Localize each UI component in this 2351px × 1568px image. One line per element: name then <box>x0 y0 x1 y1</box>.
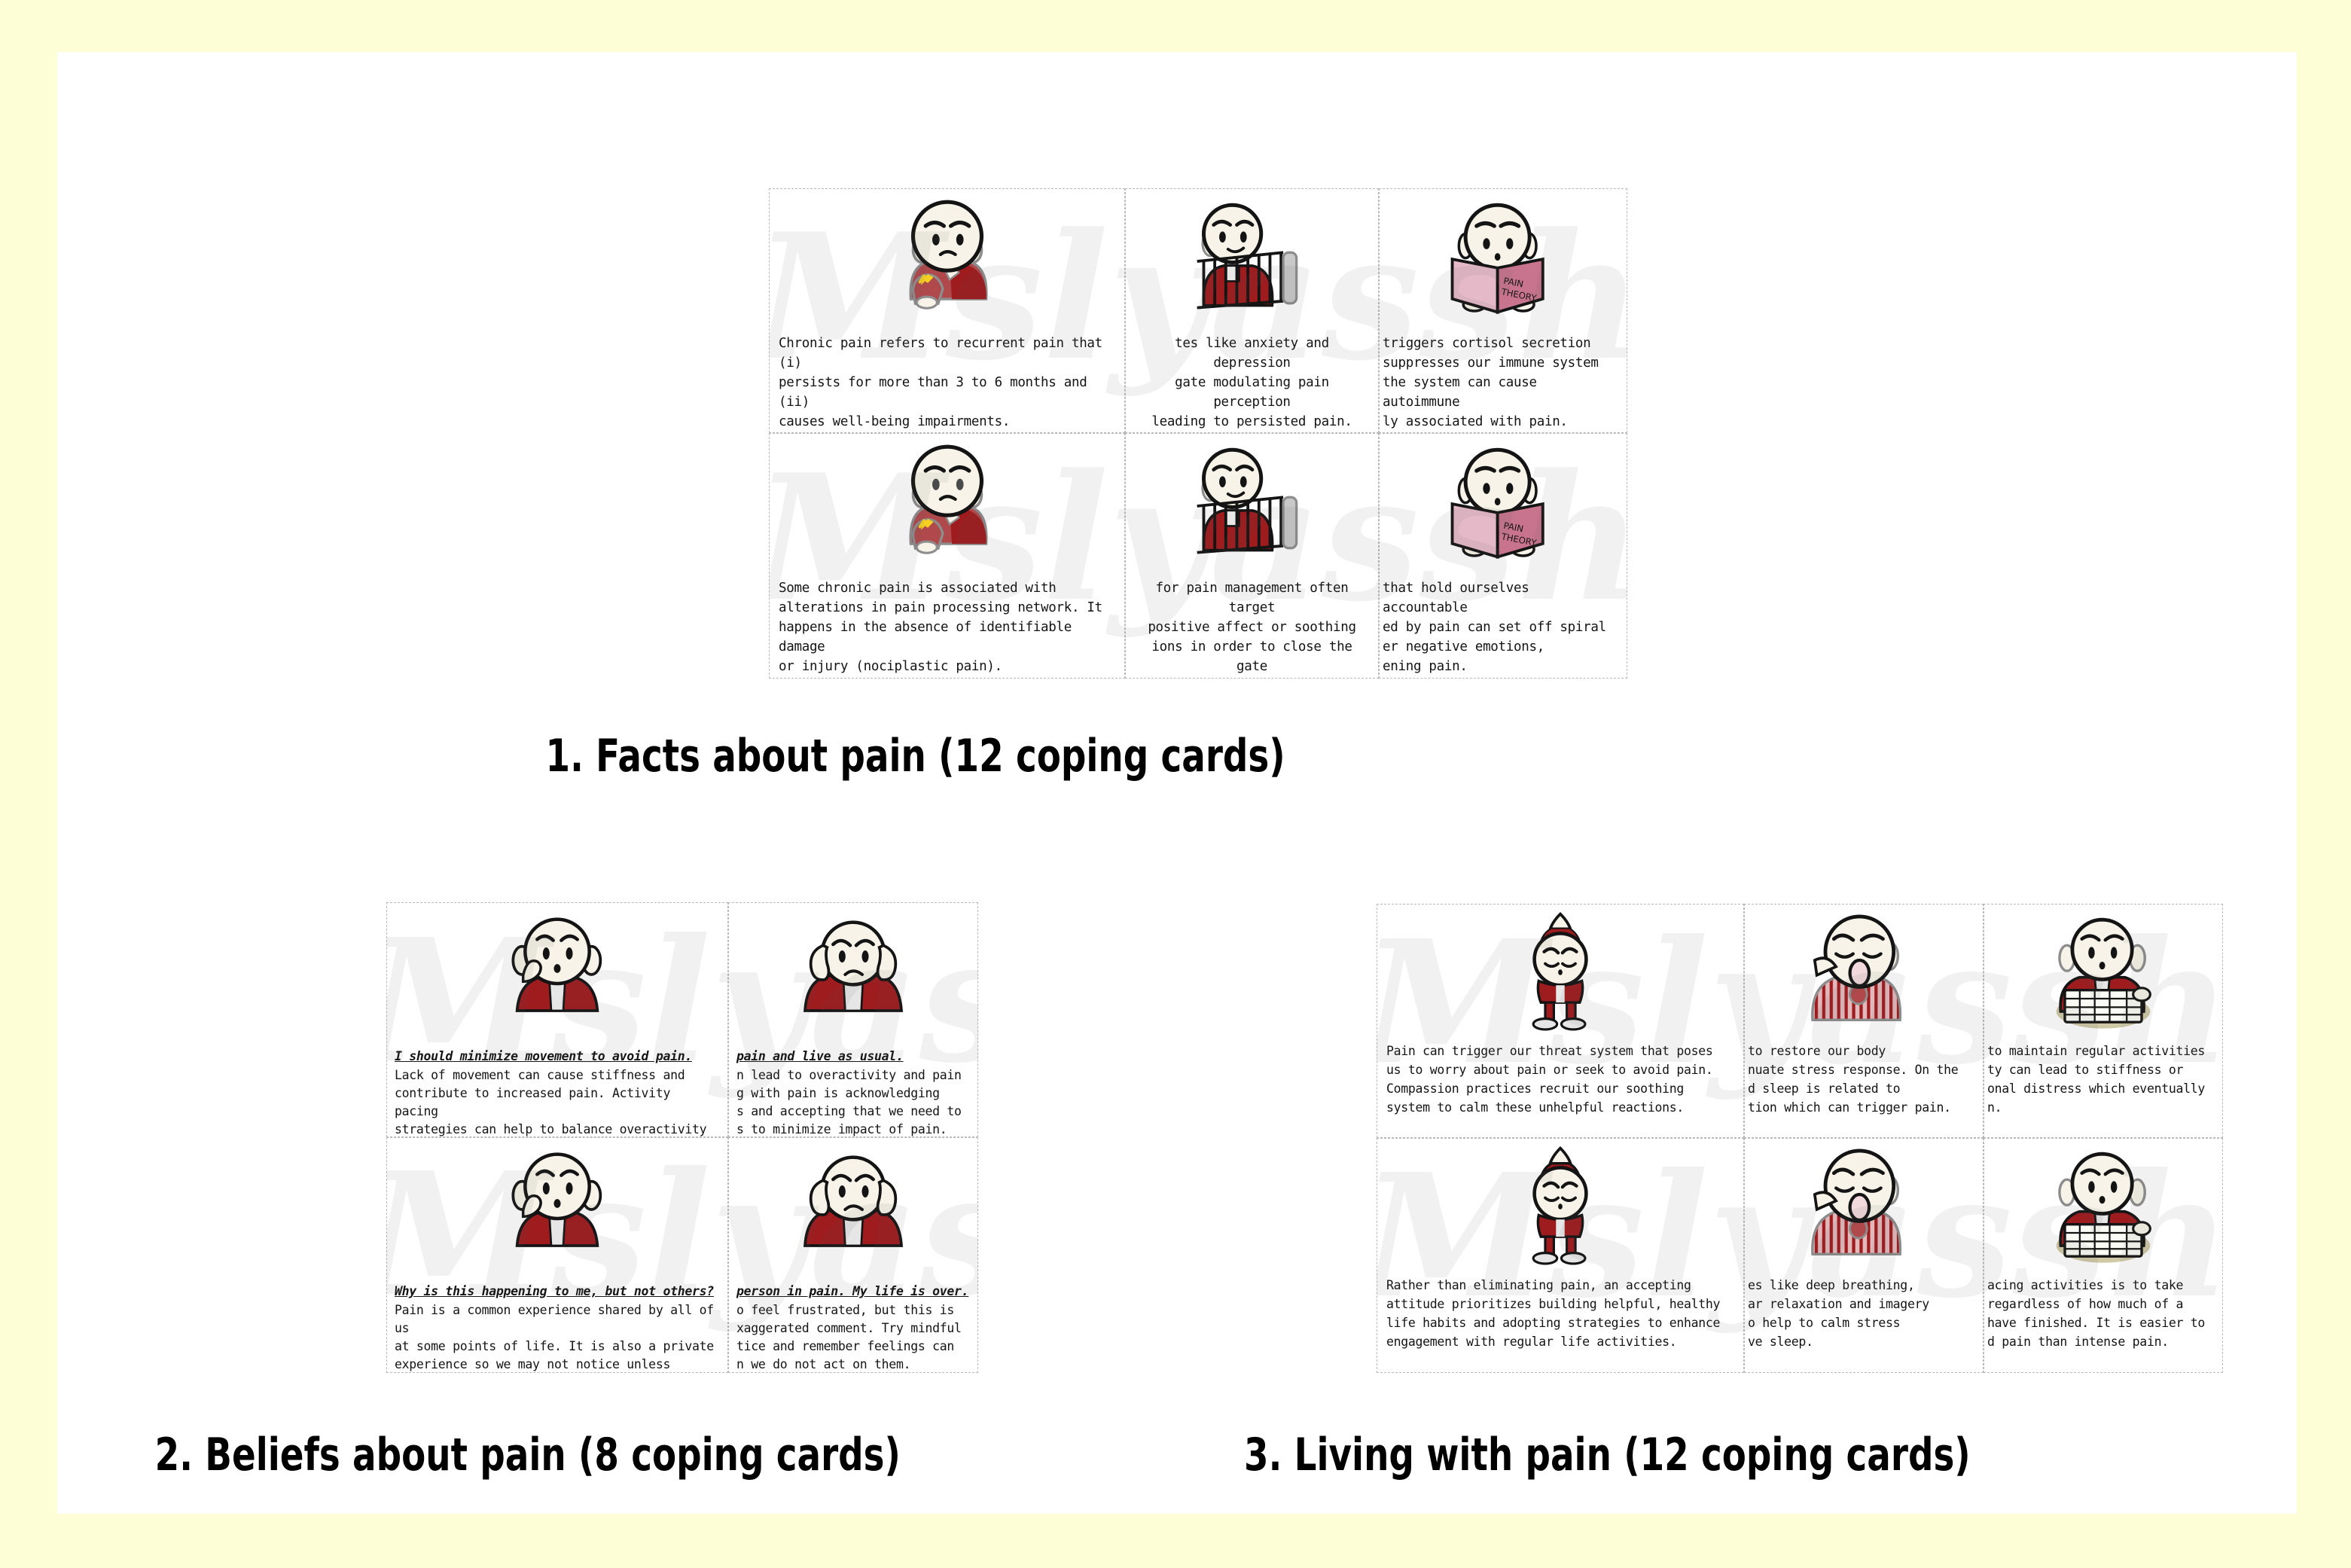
person-with-planner-icon <box>2039 1143 2167 1271</box>
card-illustration <box>1745 904 1983 1039</box>
coping-card[interactable]: for pain management often target positiv… <box>1125 433 1379 679</box>
coping-card[interactable]: PAIN THEORY that hold ourselves accounta… <box>1379 433 1627 679</box>
coping-card[interactable]: Rather than eliminating pain, an accepti… <box>1377 1138 1744 1373</box>
card-text: Why is this happening to me, but not oth… <box>387 1262 727 1373</box>
thinking-hand-on-cheek-icon <box>497 1140 617 1261</box>
belief-response: n lead to overactivity and pain g with p… <box>736 1068 962 1136</box>
coping-card[interactable]: to restore our body nuate stress respons… <box>1744 904 1984 1138</box>
yawning-sleepy-person-icon <box>1800 1143 1928 1271</box>
card-illustration <box>729 1138 977 1262</box>
card-text: to restore our body nuate stress respons… <box>1745 1039 1983 1117</box>
coping-card[interactable]: Some chronic pain is associated with alt… <box>769 433 1125 679</box>
card-illustration <box>770 189 1124 329</box>
group-1-caption: 1. Facts about pain (12 coping cards) <box>546 730 1285 782</box>
card-illustration <box>1126 189 1378 329</box>
group-2-caption: 2. Beliefs about pain (8 coping cards) <box>155 1429 901 1481</box>
card-text: Some chronic pain is associated with alt… <box>770 574 1124 676</box>
card-illustration <box>729 903 977 1027</box>
meditating-prayer-pose-icon <box>1496 1142 1625 1271</box>
card-illustration <box>1377 1139 1743 1273</box>
group-1-card-grid: Chronic pain refers to recurrent pain th… <box>769 188 1627 679</box>
group-3-card-grid: Pain can trigger our threat system that … <box>1377 904 2223 1373</box>
card-illustration <box>770 434 1124 574</box>
card-text: acing activities is to take regardless o… <box>1984 1273 2222 1351</box>
card-text: for pain management often target positiv… <box>1126 574 1378 679</box>
card-text: I should minimize movement to avoid pain… <box>387 1027 727 1137</box>
card-text: triggers cortisol secretion suppresses o… <box>1380 329 1627 432</box>
card-illustration <box>1984 1139 2222 1273</box>
card-text: Pain can trigger our threat system that … <box>1377 1039 1743 1117</box>
card-illustration: PAIN THEORY <box>1380 434 1627 574</box>
card-text: es like deep breathing, ar relaxation an… <box>1745 1273 1983 1351</box>
person-at-gate-icon <box>1186 440 1319 572</box>
white-page-panel: Chronic pain refers to recurrent pain th… <box>57 52 2297 1514</box>
coping-card[interactable]: I should minimize movement to avoid pain… <box>386 902 728 1137</box>
card-illustration <box>1745 1139 1983 1273</box>
yawning-sleepy-person-icon <box>1800 909 1928 1037</box>
belief-statement: pain and live as usual. <box>736 1047 970 1066</box>
card-illustration: PAIN THEORY <box>1380 189 1627 329</box>
coping-card[interactable]: person in pain. My life is over.o feel f… <box>728 1137 978 1373</box>
card-text: pain and live as usual.n lead to overact… <box>729 1027 977 1137</box>
person-at-gate-icon <box>1186 195 1319 328</box>
coping-card[interactable]: PAIN THEORY triggers cortisol secretion … <box>1379 188 1627 433</box>
card-text: person in pain. My life is over.o feel f… <box>729 1262 977 1373</box>
card-text: Rather than eliminating pain, an accepti… <box>1377 1273 1743 1351</box>
person-with-planner-icon <box>2039 909 2167 1037</box>
card-illustration <box>1377 904 1743 1039</box>
coping-card[interactable]: Why is this happening to me, but not oth… <box>386 1137 728 1373</box>
reading-pain-theory-book-icon: PAIN THEORY <box>1437 195 1569 328</box>
card-text: tes like anxiety and depression gate mod… <box>1126 329 1378 432</box>
belief-response: Pain is a common experience shared by al… <box>395 1303 714 1373</box>
head-in-hands-sad-icon <box>793 1140 913 1261</box>
coping-card[interactable]: to maintain regular activities ty can le… <box>1984 904 2223 1138</box>
card-illustration <box>387 903 727 1027</box>
belief-statement: Why is this happening to me, but not oth… <box>395 1282 720 1301</box>
meditating-prayer-pose-icon <box>1496 908 1625 1037</box>
reading-pain-theory-book-icon: PAIN THEORY <box>1437 440 1569 572</box>
sad-hugging-knees-icon <box>879 435 1016 572</box>
coping-card[interactable]: acing activities is to take regardless o… <box>1984 1138 2223 1373</box>
card-text: that hold ourselves accountable ed by pa… <box>1380 574 1627 676</box>
belief-statement: I should minimize movement to avoid pain… <box>395 1047 720 1066</box>
group-2-card-grid: I should minimize movement to avoid pain… <box>386 902 978 1373</box>
coping-card[interactable]: Pain can trigger our threat system that … <box>1377 904 1744 1138</box>
belief-response: Lack of movement can cause stiffness and… <box>395 1068 706 1137</box>
card-illustration <box>387 1138 727 1262</box>
coping-card[interactable]: Chronic pain refers to recurrent pain th… <box>769 188 1125 433</box>
coping-card[interactable]: pain and live as usual.n lead to overact… <box>728 902 978 1137</box>
card-illustration <box>1984 904 2222 1039</box>
card-illustration <box>1126 434 1378 574</box>
group-3-caption: 3. Living with pain (12 coping cards) <box>1244 1429 1971 1481</box>
coping-card[interactable]: tes like anxiety and depression gate mod… <box>1125 188 1379 433</box>
head-in-hands-sad-icon <box>793 905 913 1026</box>
coping-card[interactable]: es like deep breathing, ar relaxation an… <box>1744 1138 1984 1373</box>
card-text: Chronic pain refers to recurrent pain th… <box>770 329 1124 432</box>
thinking-hand-on-cheek-icon <box>497 905 617 1026</box>
card-text: to maintain regular activities ty can le… <box>1984 1039 2222 1117</box>
belief-statement: person in pain. My life is over. <box>736 1282 970 1301</box>
sad-hugging-knees-icon <box>879 191 1016 328</box>
belief-response: o feel frustrated, but this is xaggerate… <box>736 1303 962 1371</box>
